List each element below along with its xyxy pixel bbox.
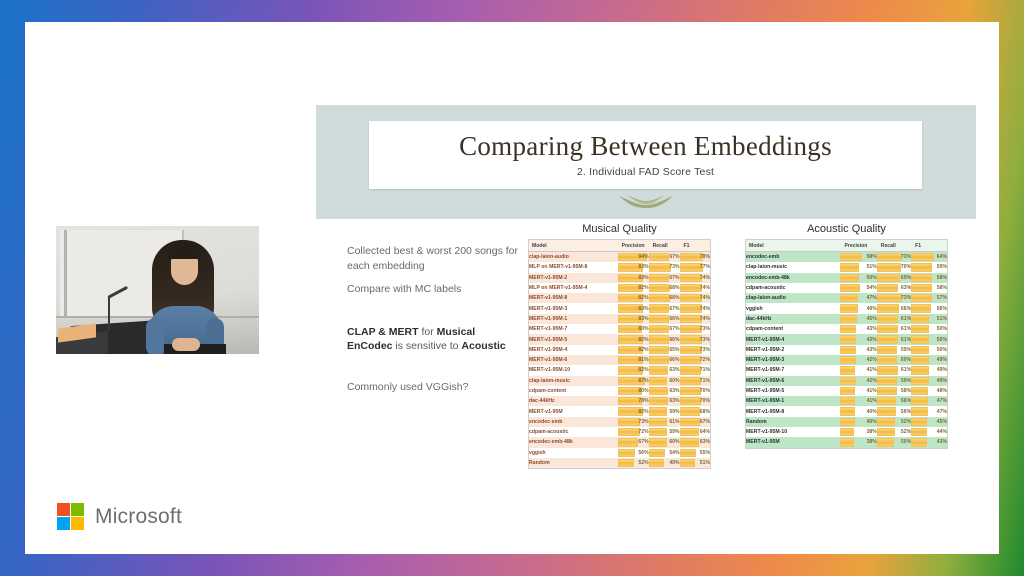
data-bar: [877, 418, 895, 426]
column-header: Precision: [840, 240, 876, 252]
cell-recall: 63%: [877, 283, 911, 293]
data-bar: [649, 407, 667, 415]
column-header: F1: [680, 240, 711, 252]
leaf-ornament-icon: [611, 191, 681, 209]
cell-f1: 51%: [911, 314, 947, 324]
acoustic-quality-table: ModelPrecisionRecallF1encodec-emb58%73%6…: [745, 239, 948, 449]
presenter-video[interactable]: [56, 226, 259, 354]
cell-precision: 54%: [840, 283, 876, 293]
table-row: cdpam-content43%61%50%: [746, 324, 948, 334]
data-bar: [649, 253, 670, 261]
cell-precision: 51%: [840, 262, 876, 272]
data-bar: [649, 325, 670, 333]
cell-f1: 72%: [680, 355, 711, 365]
cell-precision: 94%: [618, 252, 649, 263]
presentation-slide: Comparing Between Embeddings 2. Individu…: [316, 105, 976, 477]
data-bar: [911, 397, 928, 405]
table-header-row: ModelPrecisionRecallF1: [746, 240, 948, 252]
data-bar: [840, 253, 861, 261]
data-bar: [840, 356, 855, 364]
data-bar: [649, 387, 668, 395]
cell-model: cdpam-content: [746, 324, 841, 334]
table-row: clap-laion-audio47%73%57%: [746, 293, 948, 303]
cell-precision: 43%: [840, 324, 876, 334]
cell-f1: 74%: [680, 314, 711, 324]
cell-f1: 70%: [680, 396, 711, 406]
data-bar: [618, 459, 634, 467]
data-bar: [840, 304, 858, 312]
cell-precision: 72%: [618, 427, 649, 437]
cell-model: MERT-v1-95M-7: [746, 365, 841, 375]
cell-model: clap-laion-audio: [529, 252, 618, 263]
cell-model: MLP on MERT-v1-95M-4: [529, 283, 618, 293]
cell-model: MLP on MERT-v1-95M-8: [529, 262, 618, 272]
cell-f1: 49%: [911, 355, 947, 365]
cell-f1: 73%: [680, 345, 711, 355]
data-bar: [877, 315, 898, 323]
cell-model: MERT-v1-95M-7: [529, 324, 618, 334]
cell-precision: 83%: [618, 303, 649, 313]
cell-model: vggish: [746, 303, 841, 313]
data-bar: [618, 418, 641, 426]
data-bar: [877, 274, 901, 282]
data-bar: [680, 387, 701, 395]
cell-model: Random: [746, 417, 841, 427]
cell-f1: 49%: [911, 376, 947, 386]
cell-model: MERT-v1-95M-5: [746, 386, 841, 396]
cell-precision: 80%: [618, 386, 649, 396]
data-bar: [877, 356, 898, 364]
cell-recall: 56%: [877, 406, 911, 416]
data-bar: [649, 449, 666, 457]
presenter-fringe: [168, 246, 201, 259]
table-row: MERT-v1-95M-840%56%47%: [746, 406, 948, 416]
cell-precision: 47%: [840, 293, 876, 303]
cell-precision: 43%: [840, 334, 876, 344]
cell-f1: 68%: [680, 406, 711, 416]
table-row: MERT-v1-95M-741%61%49%: [746, 365, 948, 375]
cell-recall: 60%: [649, 376, 680, 386]
cell-precision: 40%: [840, 406, 876, 416]
cell-recall: 59%: [877, 376, 911, 386]
cell-f1: 74%: [680, 283, 711, 293]
cell-f1: 70%: [680, 386, 711, 396]
cell-precision: 50%: [840, 273, 876, 283]
column-header: Precision: [618, 240, 649, 252]
note-bold: Musical: [437, 326, 476, 338]
note-line: Collected best & worst 200 songs for eac…: [347, 244, 519, 273]
data-bar: [911, 335, 929, 343]
table-row: dac-44kHz45%61%51%: [746, 314, 948, 324]
cell-f1: 58%: [911, 273, 947, 283]
data-bar: [618, 449, 635, 457]
cell-recall: 67%: [649, 252, 680, 263]
cell-f1: 59%: [911, 262, 947, 272]
column-header: F1: [911, 240, 947, 252]
cell-precision: 83%: [618, 273, 649, 283]
slide-notes: Collected best & worst 200 songs for eac…: [347, 244, 519, 394]
data-bar: [680, 346, 702, 354]
cell-model: MERT-v1-95M-10: [746, 427, 841, 437]
cell-model: Random: [529, 458, 618, 469]
cell-model: MERT-v1-95M-2: [529, 273, 618, 283]
slide-subtitle: 2. Individual FAD Score Test: [369, 166, 922, 178]
data-bar: [680, 428, 699, 436]
data-bar: [911, 325, 929, 333]
cell-precision: 82%: [618, 293, 649, 303]
cell-recall: 61%: [877, 365, 911, 375]
cell-f1: 51%: [680, 458, 711, 469]
cell-precision: 42%: [840, 376, 876, 386]
slide-header-band: Comparing Between Embeddings 2. Individu…: [316, 105, 976, 219]
cell-recall: 52%: [877, 427, 911, 437]
cell-precision: 81%: [618, 355, 649, 365]
data-bar: [680, 284, 703, 292]
data-bar: [840, 263, 859, 271]
table-row: MERT-v1-95M-582%66%73%: [529, 334, 711, 344]
cell-recall: 50%: [877, 437, 911, 448]
cell-recall: 68%: [649, 293, 680, 303]
data-bar: [840, 428, 854, 436]
data-bar: [680, 397, 701, 405]
cell-recall: 52%: [877, 417, 911, 427]
cell-precision: 42%: [840, 355, 876, 365]
table-row: MERT-v1-95M-1082%63%71%: [529, 365, 711, 375]
data-bar: [680, 356, 702, 364]
cell-precision: 82%: [618, 365, 649, 375]
cell-f1: 47%: [911, 406, 947, 416]
cell-model: MERT-v1-95M: [746, 437, 841, 448]
data-bar: [840, 377, 855, 385]
cell-recall: 66%: [877, 303, 911, 313]
notes-group-2: CLAP & MERT for Musical EnCodec is sensi…: [347, 325, 519, 354]
microphone-stand: [108, 298, 110, 330]
data-bar: [680, 304, 703, 312]
note-bold: CLAP & MERT: [347, 326, 419, 338]
cell-recall: 66%: [649, 334, 680, 344]
data-bar: [877, 284, 899, 292]
data-bar: [877, 335, 898, 343]
table-row: MERT-v1-95M-383%67%74%: [529, 303, 711, 313]
data-bar: [680, 315, 703, 323]
cell-precision: 82%: [618, 406, 649, 416]
cell-model: encodec-emb: [529, 417, 618, 427]
cell-recall: 70%: [877, 262, 911, 272]
table-row: encodec-emb-48k50%69%58%: [746, 273, 948, 283]
cell-f1: 43%: [911, 437, 947, 448]
table-row: MLP on MERT-v1-95M-883%73%77%: [529, 262, 711, 272]
cell-recall: 63%: [649, 386, 680, 396]
cell-model: MERT-v1-95M: [529, 406, 618, 416]
cell-model: clap-laion-audio: [746, 293, 841, 303]
table-row: Random40%52%45%: [746, 417, 948, 427]
data-bar: [877, 294, 902, 302]
table-row: MERT-v1-95M-183%66%74%: [529, 314, 711, 324]
data-bar: [680, 274, 703, 282]
data-bar: [911, 366, 929, 374]
data-bar: [618, 438, 639, 446]
cell-recall: 69%: [877, 273, 911, 283]
note-bold: Acoustic: [461, 340, 505, 352]
whiteboard-edge: [64, 230, 67, 317]
data-bar: [877, 387, 897, 395]
data-bar: [877, 253, 902, 261]
cell-recall: 61%: [877, 314, 911, 324]
musical-quality-table: ModelPrecisionRecallF1clap-laion-audio94…: [528, 239, 711, 469]
cell-f1: 55%: [680, 448, 711, 458]
data-bar: [840, 274, 858, 282]
cell-f1: 47%: [911, 396, 947, 406]
data-bar: [840, 346, 856, 354]
cell-recall: 73%: [649, 262, 680, 272]
cell-model: MERT-v1-95M-6: [529, 355, 618, 365]
acoustic-quality-caption: Acoustic Quality: [745, 223, 948, 235]
table-row: MERT-v1-95M-443%61%50%: [746, 334, 948, 344]
cell-precision: 52%: [618, 458, 649, 469]
data-bar: [877, 438, 894, 446]
data-bar: [911, 377, 929, 385]
cell-f1: 74%: [680, 303, 711, 313]
cell-f1: 73%: [680, 334, 711, 344]
data-bar: [618, 428, 640, 436]
cell-precision: 82%: [618, 283, 649, 293]
data-bar: [877, 428, 895, 436]
cell-model: dac-44kHz: [529, 396, 618, 406]
data-bar: [877, 366, 898, 374]
acoustic-quality-block: Acoustic Quality ModelPrecisionRecallF1e…: [745, 223, 948, 449]
cell-model: clap-laion-music: [529, 376, 618, 386]
cell-recall: 59%: [649, 406, 680, 416]
table-row: encodec-emb-48k67%60%63%: [529, 437, 711, 447]
cell-recall: 67%: [649, 324, 680, 334]
cell-recall: 61%: [649, 417, 680, 427]
cell-model: clap-laion-music: [746, 262, 841, 272]
cell-recall: 59%: [877, 345, 911, 355]
data-bar: [840, 335, 856, 343]
data-bar: [840, 438, 854, 446]
data-bar: [680, 335, 702, 343]
data-bar: [680, 449, 697, 457]
cell-recall: 67%: [649, 303, 680, 313]
data-bar: [649, 366, 668, 374]
table-row: MERT-v1-95M-780%67%73%: [529, 324, 711, 334]
cell-precision: 83%: [618, 314, 649, 324]
cell-recall: 73%: [877, 293, 911, 303]
cell-f1: 56%: [911, 303, 947, 313]
logo-tile-yellow: [71, 517, 84, 530]
cell-precision: 38%: [840, 437, 876, 448]
cell-f1: 50%: [911, 345, 947, 355]
table-row: MERT-v1-95M-541%58%48%: [746, 386, 948, 396]
data-bar: [840, 397, 855, 405]
cell-model: cdpam-acoustic: [529, 427, 618, 437]
microsoft-logo: Microsoft: [57, 503, 182, 530]
cell-model: MERT-v1-95M-6: [746, 376, 841, 386]
cell-precision: 87%: [618, 376, 649, 386]
cell-f1: 71%: [680, 376, 711, 386]
table-row: vggish56%54%55%: [529, 448, 711, 458]
table-row: cdpam-content80%63%70%: [529, 386, 711, 396]
cell-f1: 44%: [911, 427, 947, 437]
data-bar: [911, 438, 926, 446]
note-plain: is sensitive to: [393, 340, 462, 352]
table-row: vggish49%66%56%: [746, 303, 948, 313]
notes-group-1: Collected best & worst 200 songs for eac…: [347, 244, 519, 297]
cell-recall: 66%: [649, 355, 680, 365]
data-bar: [877, 377, 897, 385]
data-bar: [840, 418, 855, 426]
cell-recall: 59%: [649, 427, 680, 437]
note-bold: EnCodec: [347, 340, 393, 352]
table-row: MERT-v1-95M-283%67%74%: [529, 273, 711, 283]
slide-title-card: Comparing Between Embeddings 2. Individu…: [369, 121, 922, 189]
cell-precision: 73%: [618, 417, 649, 427]
cell-precision: 38%: [840, 427, 876, 437]
table-row: MERT-v1-95M-1038%52%44%: [746, 427, 948, 437]
table-row: MERT-v1-95M-141%56%47%: [746, 396, 948, 406]
cell-recall: 65%: [649, 345, 680, 355]
data-bar: [680, 294, 703, 302]
data-bar: [911, 284, 932, 292]
cell-model: MERT-v1-95M-4: [529, 345, 618, 355]
data-bar: [649, 304, 670, 312]
cell-f1: 67%: [680, 417, 711, 427]
logo-tile-blue: [57, 517, 70, 530]
cell-model: MERT-v1-95M-8: [529, 293, 618, 303]
cell-model: MERT-v1-95M-8: [746, 406, 841, 416]
table-row: clap-laion-music51%70%59%: [746, 262, 948, 272]
data-bar: [680, 325, 702, 333]
note-line-emphasis: EnCodec is sensitive to Acoustic: [347, 339, 519, 354]
cell-recall: 66%: [649, 314, 680, 324]
note-line-emphasis: CLAP & MERT for Musical: [347, 325, 519, 340]
data-bar: [911, 387, 928, 395]
cell-recall: 68%: [649, 283, 680, 293]
data-bar: [911, 315, 929, 323]
screen-frame: Microsoft Comparing Between Embeddings 2…: [0, 0, 1024, 576]
data-bar: [877, 263, 901, 271]
column-header: Model: [746, 240, 841, 252]
cell-recall: 49%: [649, 458, 680, 469]
cell-precision: 56%: [618, 448, 649, 458]
cell-precision: 41%: [840, 386, 876, 396]
cell-f1: 71%: [680, 365, 711, 375]
data-bar: [680, 407, 701, 415]
musical-quality-block: Musical Quality ModelPrecisionRecallF1cl…: [528, 223, 711, 469]
cell-model: MERT-v1-95M-5: [529, 334, 618, 344]
cell-model: dac-44kHz: [746, 314, 841, 324]
cell-recall: 60%: [877, 355, 911, 365]
cell-model: cdpam-acoustic: [746, 283, 841, 293]
cell-recall: 54%: [649, 448, 680, 458]
table-row: MERT-v1-95M-882%68%74%: [529, 293, 711, 303]
cell-f1: 45%: [911, 417, 947, 427]
cell-model: encodec-emb-48k: [529, 437, 618, 447]
cell-f1: 73%: [680, 324, 711, 334]
data-bar: [649, 459, 664, 467]
cell-precision: 80%: [618, 324, 649, 334]
cell-precision: 41%: [840, 396, 876, 406]
table-row: MERT-v1-95M38%50%43%: [746, 437, 948, 448]
cell-model: MERT-v1-95M-2: [746, 345, 841, 355]
column-header: Recall: [877, 240, 911, 252]
slide-title: Comparing Between Embeddings: [369, 131, 922, 162]
presenter-hands: [172, 338, 200, 351]
logo-tile-red: [57, 503, 70, 516]
cell-model: encodec-emb: [746, 252, 841, 263]
table-row: clap-laion-music87%60%71%: [529, 376, 711, 386]
cell-recall: 63%: [649, 396, 680, 406]
cell-recall: 73%: [877, 252, 911, 263]
cell-model: MERT-v1-95M-1: [529, 314, 618, 324]
microsoft-logo-icon: [57, 503, 84, 530]
cell-recall: 61%: [877, 324, 911, 334]
cell-f1: 74%: [680, 273, 711, 283]
cell-f1: 50%: [911, 334, 947, 344]
table-row: encodec-emb73%61%67%: [529, 417, 711, 427]
table-row: MLP on MERT-v1-95M-482%68%74%: [529, 283, 711, 293]
cell-precision: 49%: [840, 303, 876, 313]
cell-model: MERT-v1-95M-3: [529, 303, 618, 313]
table-row: MERT-v1-95M-342%60%49%: [746, 355, 948, 365]
data-bar: [649, 335, 669, 343]
data-bar: [911, 418, 927, 426]
cell-precision: 82%: [618, 334, 649, 344]
cell-recall: 60%: [649, 437, 680, 447]
data-bar: [680, 366, 702, 374]
data-bar: [649, 263, 672, 271]
table-row: encodec-emb58%73%64%: [746, 252, 948, 263]
cell-f1: 50%: [911, 324, 947, 334]
cell-f1: 49%: [911, 365, 947, 375]
cell-f1: 64%: [680, 427, 711, 437]
data-bar: [649, 397, 668, 405]
data-bar: [649, 315, 669, 323]
data-bar: [840, 387, 855, 395]
notes-group-3: Commonly used VGGish?: [347, 380, 519, 395]
cell-precision: 78%: [618, 396, 649, 406]
data-bar: [649, 356, 669, 364]
column-header: Recall: [649, 240, 680, 252]
table-row: MERT-v1-95M82%59%68%: [529, 406, 711, 416]
table-row: cdpam-acoustic54%63%58%: [746, 283, 948, 293]
data-bar: [877, 304, 900, 312]
data-bar: [840, 315, 856, 323]
cell-f1: 63%: [680, 437, 711, 447]
data-bar: [911, 274, 932, 282]
data-bar: [877, 325, 898, 333]
data-bar: [911, 428, 927, 436]
cell-model: MERT-v1-95M-4: [746, 334, 841, 344]
table-row: Random52%49%51%: [529, 458, 711, 469]
data-bar: [680, 459, 696, 467]
data-bar: [840, 366, 855, 374]
cell-f1: 48%: [911, 386, 947, 396]
data-bar: [840, 325, 856, 333]
cell-f1: 77%: [680, 262, 711, 272]
table-row: clap-laion-audio94%67%78%: [529, 252, 711, 263]
cell-model: cdpam-content: [529, 386, 618, 396]
data-bar: [680, 418, 700, 426]
data-bar: [911, 346, 929, 354]
data-bar: [649, 377, 668, 385]
data-bar: [911, 263, 932, 271]
data-bar: [680, 377, 702, 385]
cell-model: MERT-v1-95M-1: [746, 396, 841, 406]
data-bar: [840, 294, 857, 302]
data-bar: [840, 284, 860, 292]
presenter-arm-left: [146, 318, 164, 354]
